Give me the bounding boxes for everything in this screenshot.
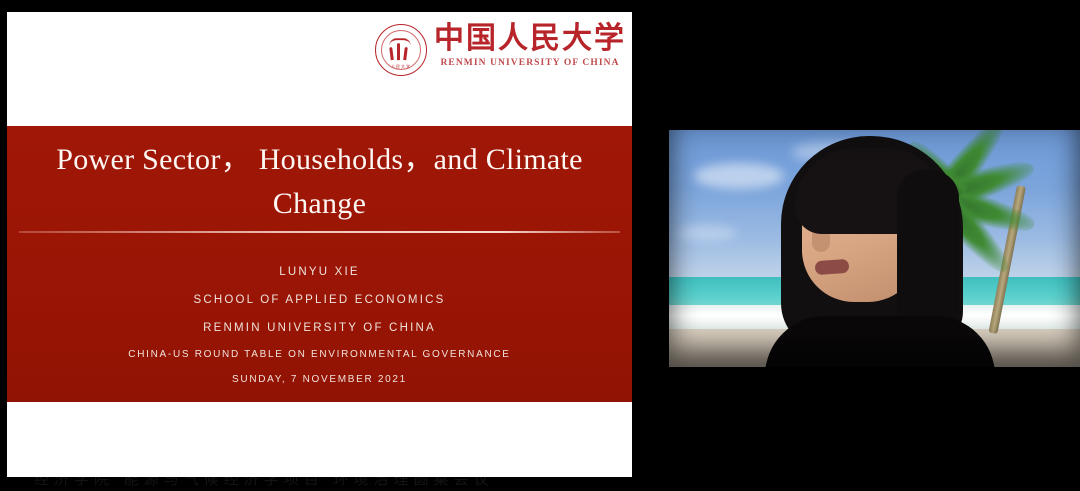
event-name: CHINA-US ROUND TABLE ON ENVIRONMENTAL GO… bbox=[7, 342, 632, 367]
seal-strokes-icon bbox=[389, 38, 413, 60]
slide-header: 人民大学 中国人民大学 RENMIN UNIVERSITY OF CHINA bbox=[7, 12, 632, 126]
title-band: Power Sector， Households，and Climate Cha… bbox=[7, 126, 632, 402]
logo-text-block: 中国人民大学 RENMIN UNIVERSITY OF CHINA bbox=[434, 22, 626, 68]
speaker-figure bbox=[669, 130, 1080, 367]
presenter-university: RENMIN UNIVERSITY OF CHINA bbox=[7, 314, 632, 342]
university-logo: 人民大学 中国人民大学 RENMIN UNIVERSITY OF CHINA bbox=[375, 22, 626, 76]
presenter-school: SCHOOL OF APPLIED ECONOMICS bbox=[7, 286, 632, 314]
participant-video-tile[interactable] bbox=[669, 130, 1080, 367]
logo-english-name: RENMIN UNIVERSITY OF CHINA bbox=[440, 58, 619, 68]
speaker-mouth bbox=[815, 259, 850, 275]
slide-title: Power Sector， Households，and Climate Cha… bbox=[7, 138, 632, 227]
cropped-strip-text: 经济学院 能源与气候经济学项目 环境治理圆桌会议 bbox=[34, 477, 494, 489]
title-divider bbox=[19, 231, 620, 233]
event-date: SUNDAY, 7 NOVEMBER 2021 bbox=[7, 367, 632, 392]
logo-chinese-name: 中国人民大学 bbox=[434, 22, 626, 56]
speaker-torso bbox=[765, 316, 995, 367]
shared-slide[interactable]: 人民大学 中国人民大学 RENMIN UNIVERSITY OF CHINA P… bbox=[7, 12, 632, 477]
cropped-bottom-strip: 经济学院 能源与气候经济学项目 环境治理圆桌会议 bbox=[0, 477, 1080, 491]
presenter-name: LUNYU XIE bbox=[7, 258, 632, 286]
university-seal-icon: 人民大学 bbox=[375, 24, 427, 76]
slide-metadata: LUNYU XIE SCHOOL OF APPLIED ECONOMICS RE… bbox=[7, 258, 632, 392]
seal-inner-text: 人民大学 bbox=[391, 64, 411, 70]
